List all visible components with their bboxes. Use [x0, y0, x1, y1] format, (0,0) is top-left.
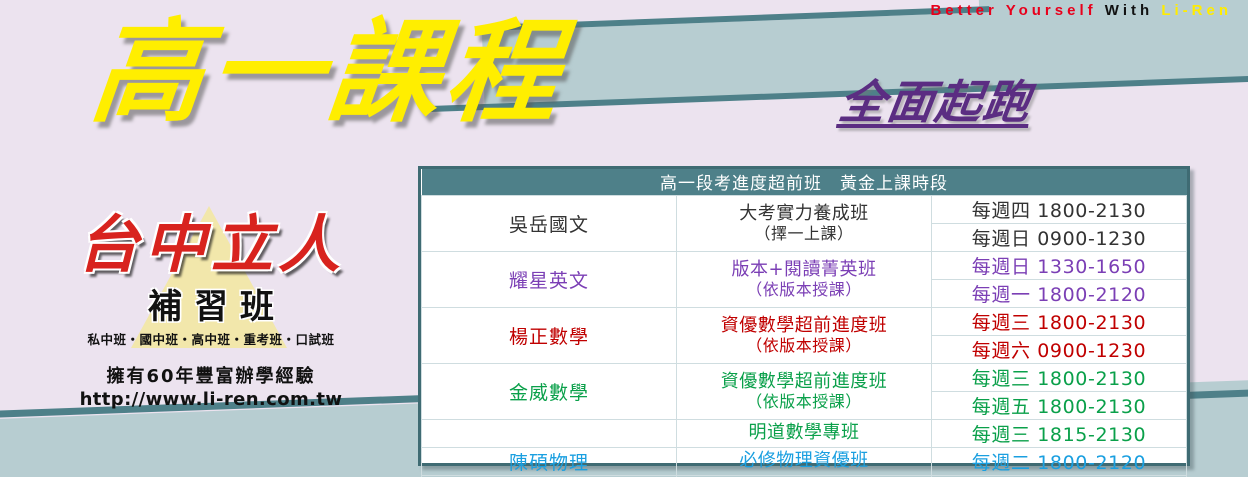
cell-teacher: 耀星英文 [422, 251, 677, 307]
course-note: （依版本授課） [681, 336, 927, 355]
course-name: 明道數學專班 [749, 422, 860, 443]
cell-course: 資優數學超前進度班（依版本授課） [677, 307, 932, 363]
schedule-table-container: 高一段考進度超前班 黃金上課時段 吳岳國文大考實力養成班（擇一上課）每週四 18… [418, 166, 1190, 466]
schedule-table-title: 高一段考進度超前班 黃金上課時段 [422, 169, 1187, 195]
cell-time: 每週三 1800-2130 [932, 307, 1187, 335]
table-row: 陳碩物理必修物理資優班每週二 1800-2120 [422, 447, 1187, 475]
cell-time: 每週日 0900-1230 [932, 223, 1187, 251]
cell-time: 每週日 1330-1650 [932, 251, 1187, 279]
cell-course: 版本+閱讀菁英班（依版本授課） [677, 251, 932, 307]
course-note: （擇一上課） [681, 224, 927, 243]
logo-subname: 補習班 [36, 279, 386, 328]
cell-time: 每週三 1800-2130 [932, 363, 1187, 391]
logo-experience: 擁有60年豐富辦學經驗 [36, 362, 386, 388]
course-name: 必修物理資優班 [739, 450, 869, 471]
tagline: Better Yourself With Li-Ren [930, 2, 1232, 19]
logo-class-list: 私中班・國中班・高中班・重考班・口試班 [36, 329, 386, 348]
schedule-table: 高一段考進度超前班 黃金上課時段 吳岳國文大考實力養成班（擇一上課）每週四 18… [421, 169, 1187, 477]
cell-teacher: 陳碩物理 [422, 447, 677, 475]
course-name: 大考實力養成班 [739, 203, 869, 224]
course-name: 版本+閱讀菁英班 [731, 259, 876, 280]
cell-course: 資優數學超前進度班（依版本授課） [677, 363, 932, 419]
cell-teacher [422, 419, 677, 447]
logo-name: 台中立人 [36, 212, 386, 277]
tagline-part-black: With [1105, 2, 1153, 19]
schedule-table-head: 高一段考進度超前班 黃金上課時段 [422, 169, 1187, 195]
cell-teacher: 吳岳國文 [422, 195, 677, 251]
course-name: 資優數學超前進度班 [721, 371, 888, 392]
poster-canvas: Better Yourself With Li-Ren 高一課程 全面起跑 台中… [0, 0, 1248, 477]
cell-course: 大考實力養成班（擇一上課） [677, 195, 932, 251]
course-note: （依版本授課） [681, 392, 927, 411]
cell-time: 每週二 1800-2120 [932, 447, 1187, 475]
cell-course: 明道數學專班 [677, 419, 932, 447]
table-row: 明道數學專班每週三 1815-2130 [422, 419, 1187, 447]
cell-time: 每週四 1800-2130 [932, 195, 1187, 223]
table-row: 耀星英文版本+閱讀菁英班（依版本授課）每週日 1330-1650 [422, 251, 1187, 279]
brand-logo: 台中立人 補習班 私中班・國中班・高中班・重考班・口試班 擁有60年豐富辦學經驗… [36, 212, 386, 410]
logo-website-url[interactable]: http://www.li-ren.com.tw [36, 389, 386, 410]
cell-time: 每週六 0900-1230 [932, 335, 1187, 363]
table-row: 金威數學資優數學超前進度班（依版本授課）每週三 1800-2130 [422, 363, 1187, 391]
tagline-part-red: Better Yourself [930, 2, 1096, 19]
cell-teacher: 金威數學 [422, 363, 677, 419]
course-name: 資優數學超前進度班 [721, 315, 888, 336]
cell-time: 每週三 1815-2130 [932, 419, 1187, 447]
cell-course: 必修物理資優班 [677, 447, 932, 475]
cell-time: 每週一 1800-2120 [932, 279, 1187, 307]
cell-teacher: 楊正數學 [422, 307, 677, 363]
subtitle: 全面起跑 [835, 66, 1036, 132]
course-note: （依版本授課） [681, 280, 927, 299]
table-row: 楊正數學資優數學超前進度班（依版本授課）每週三 1800-2130 [422, 307, 1187, 335]
cell-time: 每週五 1800-2130 [932, 391, 1187, 419]
table-header-row: 高一段考進度超前班 黃金上課時段 [422, 169, 1187, 195]
tagline-part-yellow: Li-Ren [1161, 2, 1232, 19]
page-title: 高一課程 [86, 14, 570, 132]
schedule-table-body: 吳岳國文大考實力養成班（擇一上課）每週四 1800-2130每週日 0900-1… [422, 195, 1187, 477]
table-row: 吳岳國文大考實力養成班（擇一上課）每週四 1800-2130 [422, 195, 1187, 223]
